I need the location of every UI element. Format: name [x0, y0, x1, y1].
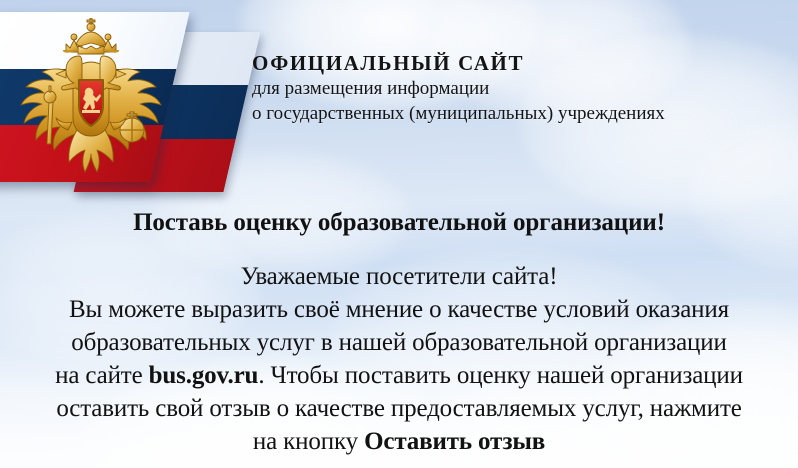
body-line-2: образовательных услуг в нашей образовате… [0, 326, 798, 359]
body-line-5: на кнопку Оставить отзыв [0, 425, 798, 458]
poster-canvas: ОФИЦИАЛЬНЫЙ САЙТ для размещения информац… [0, 0, 798, 468]
russian-flag-emblem-icon [0, 0, 232, 205]
body-line-3-suffix: . Чтобы поставить оценку нашей организац… [258, 362, 743, 389]
body-line-4: оставить свой отзыв о качестве предостав… [0, 392, 798, 425]
site-title: ОФИЦИАЛЬНЫЙ САЙТ [252, 50, 798, 76]
site-header-text: ОФИЦИАЛЬНЫЙ САЙТ для размещения информац… [252, 50, 798, 126]
bus-gov-ru-site-name: bus.gov.ru [149, 362, 259, 389]
announcement-body: Уважаемые посетители сайта! Вы можете вы… [0, 260, 798, 458]
body-line-3: на сайте bus.gov.ru. Чтобы поставить оце… [0, 359, 798, 392]
leave-review-button-name: Оставить отзыв [364, 428, 545, 455]
cloud-shape [690, 120, 798, 270]
site-subtitle-line-1: для размещения информации [252, 76, 798, 101]
page-title: Поставь оценку образовательной организац… [0, 209, 798, 237]
salutation-line: Уважаемые посетители сайта! [0, 260, 798, 293]
body-line-3-prefix: на сайте [55, 362, 149, 389]
body-line-1: Вы можете выразить своё мнение о качеств… [0, 293, 798, 326]
site-subtitle-line-2: о государственных (муниципальных) учрежд… [252, 101, 798, 126]
body-line-5-prefix: на кнопку [253, 428, 364, 455]
double-headed-eagle-icon [16, 18, 166, 176]
